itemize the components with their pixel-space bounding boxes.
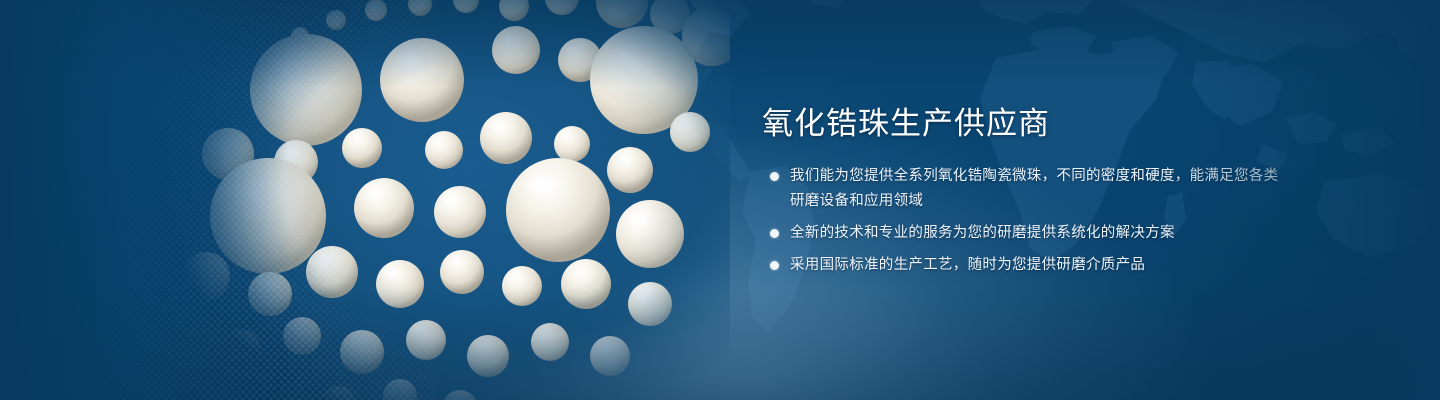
background-vignette	[0, 0, 1440, 400]
hero-banner: 氧化锆珠生产供应商 我们能为您提供全系列氧化锆陶瓷微珠，不同的密度和硬度，能满足…	[0, 0, 1440, 400]
